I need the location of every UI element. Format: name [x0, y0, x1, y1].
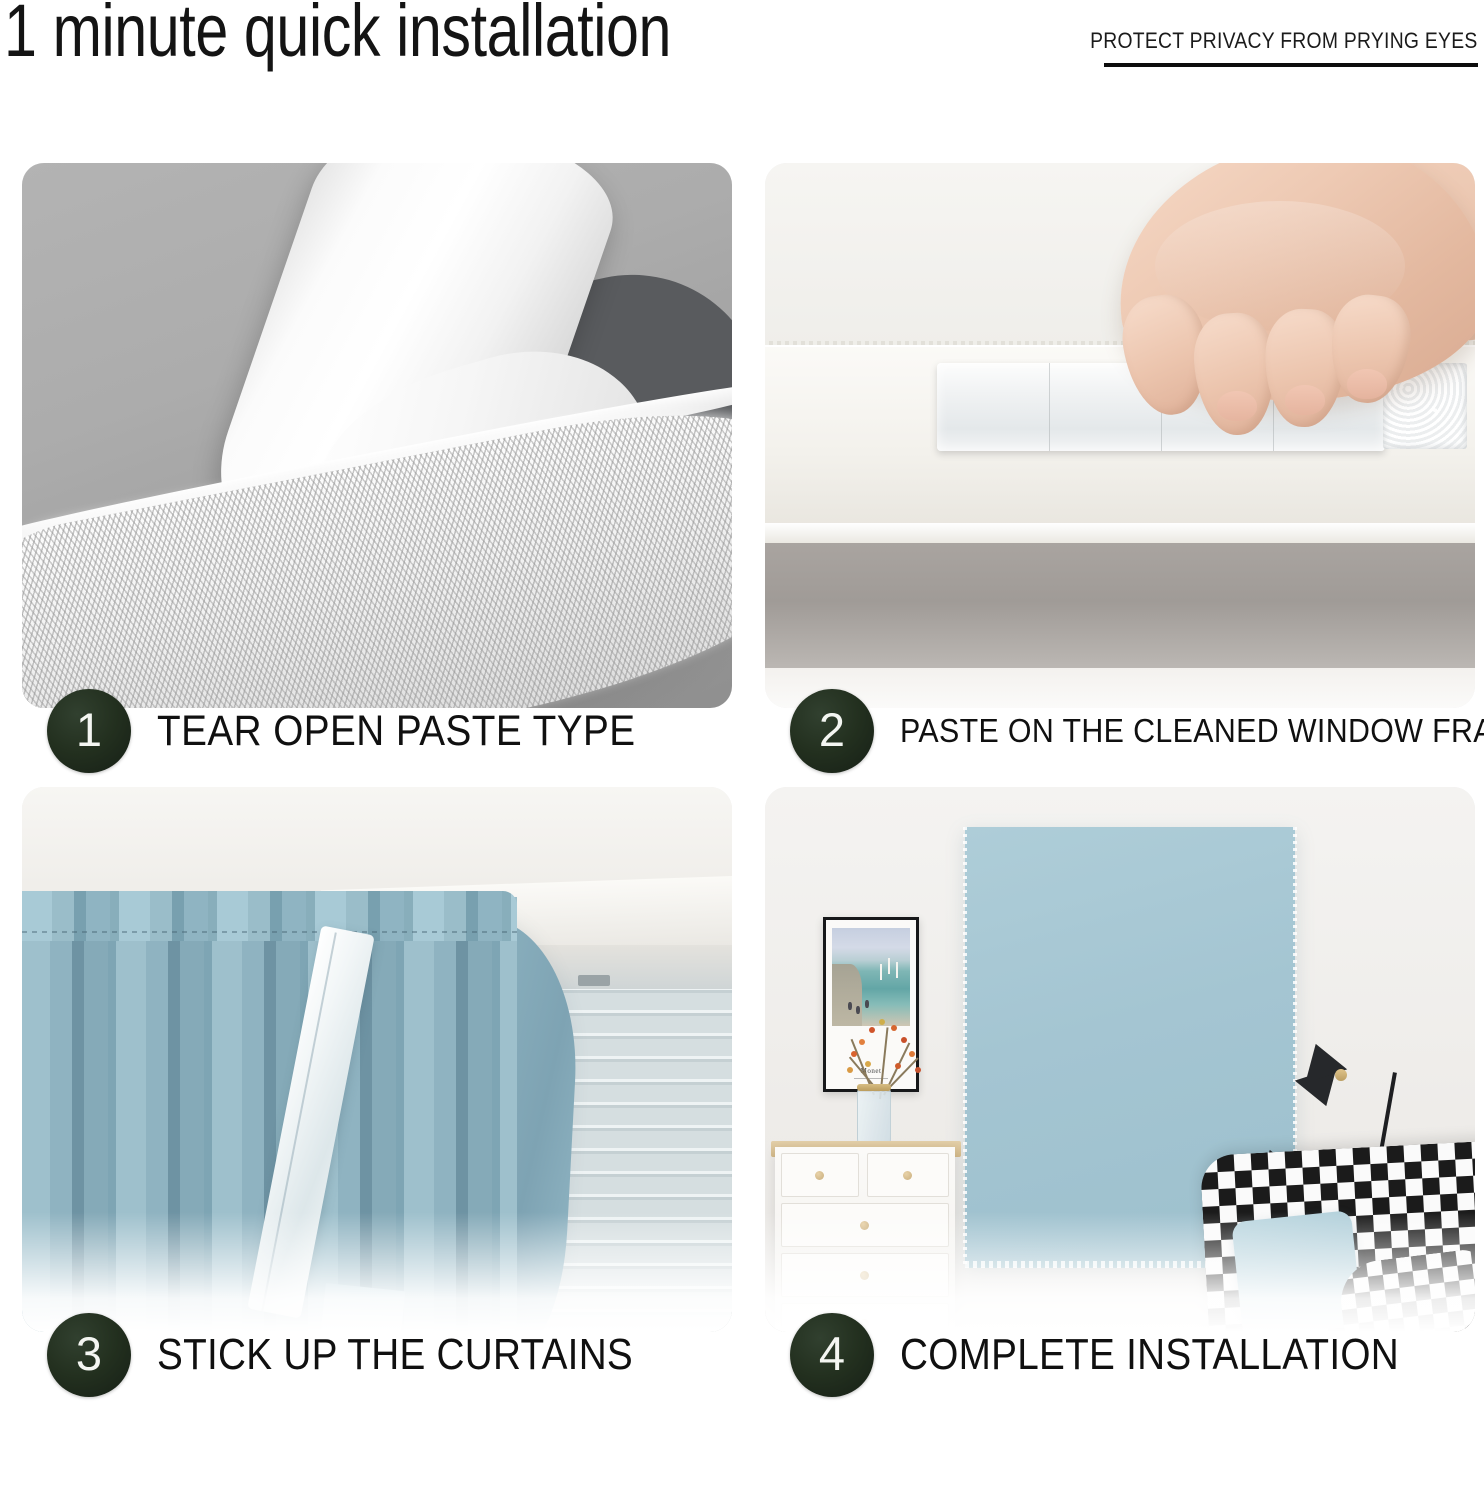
- steps-grid: 1 TEAR OPEN PASTE TYPE: [0, 150, 1484, 1494]
- blinds-bracket: [578, 975, 610, 986]
- step-3-caption: STICK UP THE CURTAINS: [157, 1330, 633, 1380]
- step-1-caption: TEAR OPEN PASTE TYPE: [157, 707, 636, 756]
- tagline-divider: [1104, 63, 1478, 67]
- fingernail-little: [1347, 369, 1387, 399]
- tagline-block: PROTECT PRIVACY FROM PRYING EYES: [1027, 28, 1478, 67]
- fingernail-ring: [1285, 385, 1325, 415]
- step-number-badge-3: 3: [47, 1313, 131, 1397]
- step-number-badge-4: 4: [790, 1313, 874, 1397]
- step-2-caption: PASTE ON THE CLEANED WINDOW FRAME: [900, 712, 1484, 750]
- step-3-caption-row: 3 STICK UP THE CURTAINS: [22, 1300, 732, 1410]
- step-4-photo: Monet: [765, 787, 1475, 1332]
- fingernail-middle: [1217, 391, 1257, 421]
- lower-wall: [765, 543, 1475, 673]
- curtain-top-band: [22, 891, 517, 941]
- tagline-text: PROTECT PRIVACY FROM PRYING EYES: [1091, 28, 1478, 54]
- step-1-photo: [22, 163, 732, 708]
- step-number-badge-1: 1: [47, 689, 131, 773]
- step-4-caption: COMPLETE INSTALLATION: [900, 1330, 1399, 1380]
- curtain-stitch-line: [22, 931, 517, 933]
- vase-brass-ring: [857, 1084, 891, 1091]
- step-3-photo: [22, 787, 732, 1332]
- step-card-4[interactable]: Monet: [765, 787, 1475, 1427]
- step-2-caption-row: 2 PASTE ON THE CLEANED WINDOW FRAME: [765, 676, 1475, 786]
- lamp-joint-upper: [1335, 1069, 1347, 1081]
- window-sill: [765, 523, 1475, 545]
- step-2-photo: [765, 163, 1475, 708]
- step-card-3[interactable]: 3 STICK UP THE CURTAINS: [22, 787, 732, 1427]
- curtain-bottom-hem: [965, 1261, 1295, 1268]
- blue-curtain: [22, 897, 517, 1332]
- step-card-1[interactable]: 1 TEAR OPEN PASTE TYPE: [22, 163, 732, 803]
- step-4-caption-row: 4 COMPLETE INSTALLATION: [765, 1300, 1475, 1410]
- header: 1 minute quick installation PROTECT PRIV…: [0, 0, 1484, 150]
- page-title: 1 minute quick installation: [4, 0, 671, 68]
- step-card-2[interactable]: 2 PASTE ON THE CLEANED WINDOW FRAME: [765, 163, 1475, 803]
- step-number-badge-2: 2: [790, 689, 874, 773]
- step-1-caption-row: 1 TEAR OPEN PASTE TYPE: [22, 676, 732, 786]
